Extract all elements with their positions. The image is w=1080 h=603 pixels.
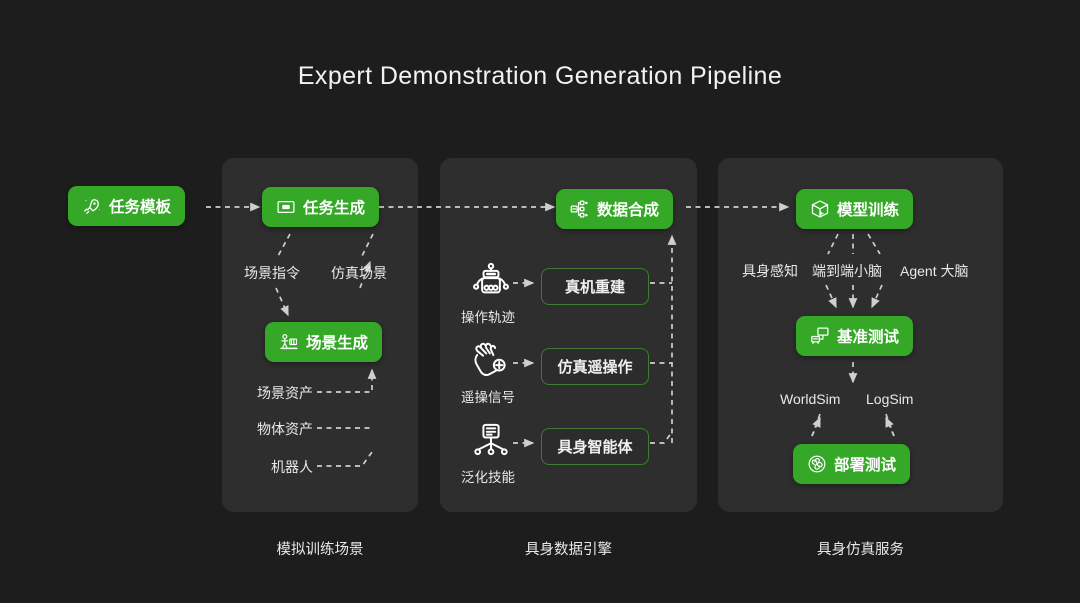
cube-train-icon [810,199,830,219]
node-label: 具身智能体 [557,436,632,457]
node-label: 基准测试 [837,325,899,347]
benchmark-monitor-icon [810,326,830,346]
frame-pl-icon [276,197,296,217]
edge-label-worldsim: WorldSim [780,391,840,407]
edge-label-logsim: LogSim [866,391,913,407]
node-label: 任务生成 [303,196,365,218]
caption-embodied-data-engine: 具身数据引擎 [440,538,697,559]
edge-label-e2e-cerebellum: 端到端小脑 [812,261,882,281]
source-label-operation-trajectory: 操作轨迹 [461,306,515,326]
input-label-robot: 机器人 [271,457,313,477]
robot-icon [470,262,512,300]
node-label: 数据合成 [597,198,659,220]
edge-label-agent-brain: Agent 大脑 [900,261,968,281]
node-embodied-agent[interactable]: 具身智能体 [541,428,649,465]
node-scene-generation[interactable]: 场景生成 [265,322,382,362]
source-label-teleop-signal: 遥操信号 [461,386,515,406]
data-synthesis-icon [570,199,590,219]
input-label-scene-assets: 场景资产 [257,383,313,403]
agent-network-icon [470,422,512,460]
scene-builder-icon [279,332,299,352]
node-real-machine-reconstruction[interactable]: 真机重建 [541,268,649,305]
source-label-generalization-skill: 泛化技能 [461,466,515,486]
edge-label-embodied-perception: 具身感知 [742,261,798,281]
edge-label-scene-instruction: 场景指令 [244,263,300,283]
node-benchmark-test[interactable]: 基准测试 [796,316,913,356]
node-label: 部署测试 [834,453,896,475]
node-deployment-test[interactable]: 部署测试 [793,444,910,484]
node-model-training[interactable]: 模型训练 [796,189,913,229]
node-label: 仿真遥操作 [557,356,632,377]
caption-simulation-training-scenes: 模拟训练场景 [222,538,418,559]
node-simulated-teleoperation[interactable]: 仿真遥操作 [541,348,649,385]
edge-label-sim-scene: 仿真场景 [331,263,387,283]
node-task-template[interactable]: 任务模板 [68,186,185,226]
node-data-synthesis[interactable]: 数据合成 [556,189,673,229]
input-label-object-assets: 物体资产 [257,419,313,439]
node-label: 任务模板 [109,195,171,217]
node-task-generation[interactable]: 任务生成 [262,187,379,227]
page-title: Expert Demonstration Generation Pipeline [0,62,1080,91]
deploy-fan-icon [807,454,827,474]
node-label: 场景生成 [306,331,368,353]
diagram-canvas: Expert Demonstration Generation Pipeline [0,0,1080,603]
caption-embodied-simulation-service: 具身仿真服务 [718,538,1003,559]
rocket-icon [82,196,102,216]
node-label: 真机重建 [565,276,625,297]
node-label: 模型训练 [837,198,899,220]
glove-icon [470,342,512,380]
